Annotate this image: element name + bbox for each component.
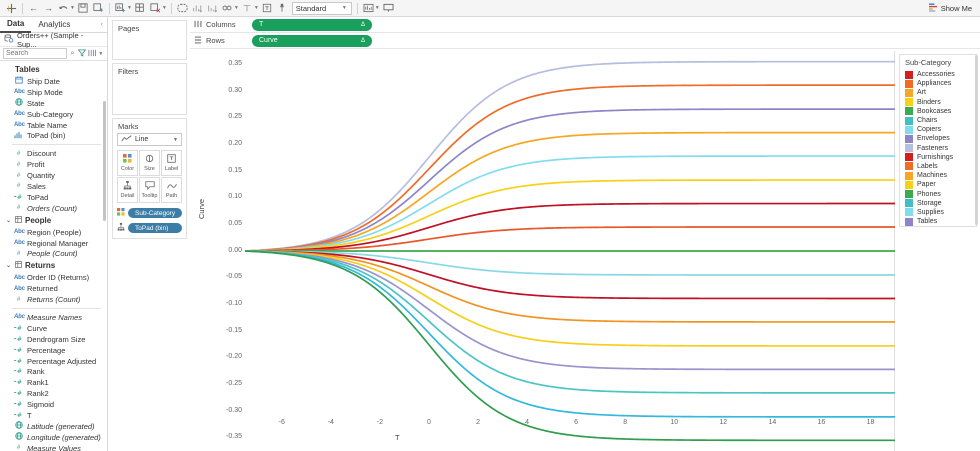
color-button-label: Color — [121, 166, 134, 172]
abc-icon: Abc — [14, 275, 23, 281]
field-divider — [12, 144, 101, 145]
legend-item-label: Labels — [917, 163, 938, 170]
field-item-label: Longitude (generated) — [27, 433, 101, 442]
svg-text:#: # — [17, 194, 22, 200]
columns-pill-delta-icon: Δ — [361, 22, 365, 28]
tooltip-icon — [145, 181, 155, 192]
legend-item-label: Art — [917, 89, 926, 96]
tooltip-button-label: Tooltip — [142, 193, 158, 199]
legend-scrollbar[interactable] — [975, 55, 978, 225]
datasource-item[interactable]: Orders++ (Sample - Sup... — [0, 33, 107, 47]
y-axis-tick-label: 0.00 — [212, 247, 242, 254]
field-item-label: Ship Date — [27, 77, 60, 86]
svg-text:#: # — [17, 379, 22, 385]
globe-icon — [14, 98, 23, 108]
abc-icon: Abc — [14, 89, 23, 95]
columns-shelf[interactable]: Columns T Δ — [190, 17, 980, 33]
marks-pill-sub-category[interactable]: Sub-Category — [128, 208, 182, 218]
calc-hash-icon: # — [14, 378, 23, 387]
columns-icon — [194, 20, 202, 30]
filter-icon[interactable] — [78, 49, 86, 59]
marks-card: Marks Line ▼ — [112, 118, 187, 239]
legend-item-label: Tables — [917, 218, 937, 225]
svg-text:#: # — [17, 325, 22, 331]
field-item-ship-mode[interactable]: AbcShip Mode — [0, 87, 107, 98]
svg-text:#: # — [17, 390, 22, 396]
rows-pill-label: Curve — [259, 37, 278, 44]
y-axis-tick-label: -0.15 — [212, 327, 242, 334]
presentation-mode-icon[interactable] — [381, 1, 396, 16]
calc-hash-icon: # — [14, 324, 23, 333]
color-icon — [117, 208, 125, 218]
field-item-label: Latitude (generated) — [27, 422, 95, 431]
globe-icon — [14, 421, 23, 431]
svg-text:#: # — [17, 336, 22, 342]
datasource-icon — [4, 34, 14, 45]
field-item-label: Order ID (Returns) — [27, 273, 89, 282]
hash-icon: # — [14, 297, 23, 303]
show-me-label: Show Me — [941, 4, 972, 13]
legend-swatch — [905, 190, 913, 198]
field-item-label: Curve — [27, 324, 47, 333]
abc-icon: Abc — [14, 122, 23, 128]
field-item-label: Quantity — [27, 171, 55, 180]
field-item-returns-count[interactable]: #Returns (Count) — [0, 294, 107, 305]
hash-icon: # — [14, 251, 23, 257]
legend-items-list[interactable]: AccessoriesAppliancesArtBindersBookcases… — [900, 70, 976, 226]
field-item-topad[interactable]: #ToPad — [0, 192, 107, 203]
rows-shelf-label: Rows — [190, 36, 252, 46]
chevron-down-icon: ▼ — [173, 137, 178, 143]
field-item-percentage[interactable]: #Percentage — [0, 345, 107, 356]
field-item-rank2[interactable]: #Rank2 — [0, 388, 107, 399]
label-icon — [167, 154, 176, 165]
field-item-label: Returned — [27, 284, 58, 293]
legend-item-label: Binders — [917, 99, 941, 106]
field-divider — [12, 308, 101, 309]
legend-item[interactable]: Supplies — [900, 208, 976, 217]
calc-hash-icon: # — [14, 411, 23, 420]
clear-sheet-icon[interactable] — [148, 1, 163, 16]
field-item-sales[interactable]: #Sales — [0, 181, 107, 192]
visualization-area[interactable]: Curve T 0.350.300.250.200.150.100.050.00… — [190, 51, 895, 451]
legend-item[interactable]: Envelopes — [900, 134, 976, 143]
series-line-supplies — [245, 251, 895, 417]
datasource-label: Orders++ (Sample - Sup... — [17, 31, 103, 49]
field-item-profit[interactable]: #Profit — [0, 159, 107, 170]
y-axis-tick-label: 0.05 — [212, 220, 242, 227]
rows-icon — [194, 36, 202, 46]
legend-item[interactable]: Binders — [900, 98, 976, 107]
columns-pill-t[interactable]: T Δ — [252, 19, 372, 31]
hash-icon: # — [14, 445, 23, 451]
hash-icon: # — [14, 205, 23, 211]
field-item-label: Sub-Category — [27, 110, 73, 119]
size-button-label: Size — [144, 166, 155, 172]
legend-item[interactable]: Art — [900, 88, 976, 97]
collapse-pane-icon[interactable]: ‹ — [101, 21, 107, 28]
hash-icon: # — [14, 183, 23, 189]
legend-item-label: Copiers — [917, 126, 941, 133]
field-item-table-name[interactable]: AbcTable Name — [0, 120, 107, 131]
y-axis-tick-label: 0.30 — [212, 87, 242, 94]
calc-hash-icon: # — [14, 357, 23, 366]
y-axis-tick-label: -0.25 — [212, 380, 242, 387]
color-button[interactable]: Color — [117, 150, 138, 176]
legend-item[interactable]: Appliances — [900, 79, 976, 88]
y-axis-ticks: 0.350.300.250.200.150.100.050.00-0.05-0.… — [202, 51, 242, 451]
field-item-orders-count[interactable]: #Orders (Count) — [0, 203, 107, 214]
save-icon[interactable] — [76, 1, 91, 16]
detail-button[interactable]: Detail — [117, 177, 138, 203]
y-axis-tick-label: 0.20 — [212, 140, 242, 147]
size-icon — [145, 154, 154, 165]
field-item-measure-names[interactable]: AbcMeasure Names — [0, 312, 107, 323]
series-line-appliances — [245, 85, 895, 251]
legend-item-label: Bookcases — [917, 108, 951, 115]
label-button-label: Label — [165, 166, 178, 172]
field-group-label: People — [25, 216, 51, 225]
pages-card-title: Pages — [113, 21, 186, 35]
field-item-sigmoid[interactable]: #Sigmoid — [0, 399, 107, 410]
field-item-label: Dendrogram Size — [27, 335, 85, 344]
legend-swatch — [905, 199, 913, 207]
fit-axis-icon[interactable] — [361, 1, 376, 16]
legend-item-label: Storage — [917, 200, 942, 207]
legend-item[interactable]: Chairs — [900, 116, 976, 125]
legend-item-label: Supplies — [917, 209, 944, 216]
new-worksheet-icon[interactable] — [113, 1, 128, 16]
chevron-down-icon[interactable]: ⌄ — [6, 262, 12, 269]
svg-text:#: # — [17, 346, 22, 352]
legend-swatch — [905, 80, 913, 88]
legend-swatch — [905, 172, 913, 180]
fix-axes-icon[interactable] — [275, 1, 290, 16]
legend-item-label: Appliances — [917, 80, 951, 87]
legend-swatch — [905, 162, 913, 170]
group-dropdown-icon[interactable]: ▼ — [234, 5, 239, 11]
marks-pill-row-color: Sub-Category — [117, 208, 182, 218]
color-legend: Sub-Category AccessoriesAppliancesArtBin… — [896, 51, 980, 451]
table-icon — [15, 216, 22, 225]
shelf-area: Columns T Δ Rows Curve Δ — [190, 17, 980, 51]
field-group-label: Returns — [25, 261, 55, 270]
field-item-latitude-generated[interactable]: Latitude (generated) — [0, 421, 107, 432]
field-item-label: Orders (Count) — [27, 204, 77, 213]
field-item-percentage-adjusted[interactable]: #Percentage Adjusted — [0, 356, 107, 367]
path-button[interactable]: Path — [161, 177, 182, 203]
tableau-logo-icon[interactable] — [4, 1, 19, 16]
field-item-measure-values[interactable]: #Measure Values — [0, 443, 107, 451]
legend-swatch — [905, 117, 913, 125]
legend-item[interactable]: Machines — [900, 171, 976, 180]
field-item-label: Sales — [27, 182, 46, 191]
calendar-icon — [14, 76, 23, 86]
rows-pill-delta-icon: Δ — [361, 38, 365, 44]
y-axis-tick-label: 0.25 — [212, 113, 242, 120]
columns-shelf-label: Columns — [190, 20, 252, 30]
marks-pill-topad-bin[interactable]: ToPad (bin) — [128, 223, 182, 233]
field-item-label: People (Count) — [27, 249, 77, 258]
calc-hash-icon: # — [14, 400, 23, 409]
legend-item[interactable]: Accessories — [900, 70, 976, 79]
legend-swatch — [905, 208, 913, 216]
line-chart-svg — [245, 51, 895, 451]
marks-card-title: Marks — [113, 119, 186, 133]
field-item-label: Rank — [27, 367, 45, 376]
field-item-longitude-generated[interactable]: Longitude (generated) — [0, 432, 107, 443]
field-group-returns[interactable]: ⌄Returns — [0, 259, 107, 272]
main-toolbar: ← → ▼ ▼ ▼ — [0, 0, 980, 17]
y-axis-tick-label: 0.15 — [212, 167, 242, 174]
data-pane: Data Analytics ‹ Orders++ (Sample - Sup.… — [0, 17, 108, 451]
globe-icon — [14, 432, 23, 442]
color-icon — [123, 154, 132, 165]
svg-text:#: # — [17, 412, 22, 418]
legend-item-label: Envelopes — [917, 135, 950, 142]
path-icon — [167, 182, 177, 192]
legend-swatch — [905, 107, 913, 115]
field-item-label: Discount — [27, 149, 56, 158]
cards-column: Pages Filters Marks Line ▼ — [109, 17, 190, 451]
legend-item-label: Chairs — [917, 117, 937, 124]
detail-button-label: Detail — [120, 193, 134, 199]
hash-icon: # — [14, 173, 23, 179]
field-item-state[interactable]: State — [0, 98, 107, 109]
search-row: ⌕ ▼ — [0, 47, 107, 61]
clear-dropdown-icon[interactable]: ▼ — [162, 5, 167, 11]
legend-title: Sub-Category — [900, 55, 976, 70]
abc-icon: Abc — [14, 240, 23, 246]
abc-icon: Abc — [14, 286, 23, 292]
field-item-label: Ship Mode — [27, 88, 63, 97]
legend-item-label: Machines — [917, 172, 947, 179]
field-item-label: ToPad (bin) — [27, 131, 65, 140]
label-button[interactable]: Label — [161, 150, 182, 176]
field-item-label: Percentage — [27, 346, 65, 355]
legend-item[interactable]: Storage — [900, 199, 976, 208]
field-item-label: Region (People) — [27, 228, 81, 237]
pages-card[interactable]: Pages — [112, 20, 187, 60]
calc-hash-icon: # — [14, 346, 23, 355]
legend-swatch — [905, 181, 913, 189]
fit-axis-dropdown-icon[interactable]: ▼ — [375, 5, 380, 11]
path-button-label: Path — [166, 193, 177, 199]
legend-item[interactable]: Labels — [900, 162, 976, 171]
legend-item-label: Accessories — [917, 71, 955, 78]
legend-swatch — [905, 89, 913, 97]
table-icon — [15, 261, 22, 270]
columns-pill-label: T — [259, 21, 263, 28]
chevron-down-icon: ▼ — [342, 5, 347, 11]
svg-text:#: # — [17, 401, 22, 407]
legend-item[interactable]: Paper — [900, 180, 976, 189]
field-item-regional-manager[interactable]: AbcRegional Manager — [0, 238, 107, 249]
sort-ascending-icon[interactable] — [190, 1, 205, 16]
field-group-tables[interactable]: Tables — [0, 63, 107, 76]
svg-text:#: # — [17, 368, 22, 374]
legend-card: Sub-Category AccessoriesAppliancesArtBin… — [899, 54, 977, 227]
y-axis-tick-label: -0.35 — [212, 433, 242, 440]
field-item-topad-bin[interactable]: ToPad (bin) — [0, 130, 107, 141]
field-item-rank[interactable]: #Rank — [0, 366, 107, 377]
plot-canvas[interactable] — [245, 51, 895, 451]
legend-item[interactable]: Bookcases — [900, 107, 976, 116]
field-item-label: Returns (Count) — [27, 295, 80, 304]
field-item-label: Sigmoid — [27, 400, 54, 409]
legend-item[interactable]: Phones — [900, 189, 976, 198]
sort-descending-icon[interactable] — [205, 1, 220, 16]
y-axis-tick-label: -0.10 — [212, 300, 242, 307]
show-labels-icon[interactable] — [240, 1, 255, 16]
highlight-icon[interactable] — [175, 1, 190, 16]
field-item-label: ToPad — [27, 193, 48, 202]
legend-item[interactable]: Tables — [900, 217, 976, 226]
size-button[interactable]: Size — [139, 150, 160, 176]
field-item-returned[interactable]: AbcReturned — [0, 283, 107, 294]
field-item-region-people[interactable]: AbcRegion (People) — [0, 227, 107, 238]
abc-icon: Abc — [14, 229, 23, 235]
marks-pill-row-detail: ToPad (bin) — [117, 223, 182, 233]
legend-item[interactable]: Fasteners — [900, 144, 976, 153]
new-worksheet-dropdown-icon[interactable]: ▼ — [127, 5, 132, 11]
line-mark-icon — [121, 135, 132, 144]
y-axis-tick-label: -0.20 — [212, 353, 242, 360]
field-item-discount[interactable]: #Discount — [0, 148, 107, 159]
field-item-order-id-returns[interactable]: AbcOrder ID (Returns) — [0, 272, 107, 283]
add-datasource-icon[interactable] — [91, 1, 106, 16]
bin-icon — [14, 131, 23, 141]
calc-hash-icon: # — [14, 367, 23, 376]
legend-swatch — [905, 153, 913, 161]
legend-item[interactable]: Copiers — [900, 125, 976, 134]
legend-swatch — [905, 71, 913, 79]
chevron-down-icon[interactable]: ⌄ — [6, 217, 12, 224]
text-label-icon[interactable] — [260, 1, 275, 16]
rows-shelf[interactable]: Rows Curve Δ — [190, 33, 980, 49]
labels-dropdown-icon[interactable]: ▼ — [254, 5, 259, 11]
filters-card[interactable]: Filters — [112, 63, 187, 115]
tooltip-button[interactable]: Tooltip — [139, 177, 160, 203]
forward-icon[interactable]: → — [41, 1, 56, 16]
detail-icon — [123, 181, 132, 192]
field-item-label: Regional Manager — [27, 239, 88, 248]
field-item-label: Rank1 — [27, 378, 49, 387]
chevron-down-icon[interactable]: ▼ — [98, 51, 104, 57]
field-item-label: Table Name — [27, 121, 67, 130]
mark-type-select[interactable]: Line ▼ — [117, 133, 182, 146]
undo-dropdown-icon[interactable]: ▼ — [70, 5, 75, 11]
field-item-dendrogram-size[interactable]: #Dendrogram Size — [0, 334, 107, 345]
y-axis-tick-label: -0.05 — [212, 273, 242, 280]
show-me-icon — [929, 3, 938, 14]
legend-swatch — [905, 126, 913, 134]
field-item-label: Measure Values — [27, 444, 81, 451]
show-me-button[interactable]: Show Me — [929, 3, 976, 14]
data-pane-scrollbar[interactable] — [103, 101, 106, 221]
field-item-rank1[interactable]: #Rank1 — [0, 377, 107, 388]
y-axis-tick-label: -0.30 — [212, 407, 242, 414]
field-item-label: Profit — [27, 160, 45, 169]
group-members-icon[interactable] — [220, 1, 235, 16]
hash-icon: # — [14, 162, 23, 168]
legend-item[interactable]: Furnishings — [900, 153, 976, 162]
legend-swatch — [905, 98, 913, 106]
field-item-quantity[interactable]: #Quantity — [0, 170, 107, 181]
field-group-label: Tables — [15, 65, 40, 74]
y-axis-tick-label: 0.10 — [212, 193, 242, 200]
svg-text:#: # — [17, 357, 22, 363]
abc-icon: Abc — [14, 111, 23, 117]
field-item-t[interactable]: #T — [0, 410, 107, 421]
abc-icon: Abc — [14, 314, 23, 320]
field-item-label: Measure Names — [27, 313, 82, 322]
field-group-people[interactable]: ⌄People — [0, 214, 107, 227]
field-item-people-count[interactable]: #People (Count) — [0, 248, 107, 259]
detail-icon — [117, 223, 125, 233]
legend-item-label: Phones — [917, 191, 941, 198]
mark-type-value: Line — [135, 136, 148, 143]
rows-pill-curve[interactable]: Curve Δ — [252, 35, 372, 47]
undo-icon[interactable] — [56, 1, 71, 16]
fit-select[interactable]: Standard ▼ — [292, 2, 352, 15]
filters-card-title: Filters — [113, 64, 186, 78]
group-by-icon[interactable] — [88, 49, 96, 59]
calc-hash-icon: # — [14, 335, 23, 344]
hash-icon: # — [14, 151, 23, 157]
field-item-label: State — [27, 99, 45, 108]
field-item-label: T — [27, 411, 32, 420]
magnifier-icon[interactable]: ⌕ — [69, 50, 75, 58]
legend-item-label: Furnishings — [917, 154, 953, 161]
mark-buttons-grid: Color Size Label — [117, 150, 182, 203]
field-list[interactable]: TablesShip DateAbcShip ModeStateAbcSub-C… — [0, 61, 107, 451]
legend-swatch — [905, 218, 913, 226]
field-item-label: Percentage Adjusted — [27, 357, 96, 366]
legend-item-label: Paper — [917, 181, 936, 188]
search-input[interactable] — [3, 48, 67, 59]
field-item-label: Rank2 — [27, 389, 49, 398]
field-item-sub-category[interactable]: AbcSub-Category — [0, 109, 107, 120]
field-item-curve[interactable]: #Curve — [0, 323, 107, 334]
y-axis-tick-label: 0.35 — [212, 60, 242, 67]
back-icon[interactable]: ← — [26, 1, 41, 16]
new-dashboard-icon[interactable] — [133, 1, 148, 16]
legend-swatch — [905, 135, 913, 143]
calc-hash-icon: # — [14, 193, 23, 202]
legend-item-label: Fasteners — [917, 145, 948, 152]
legend-swatch — [905, 144, 913, 152]
calc-hash-icon: # — [14, 389, 23, 398]
fit-select-value: Standard — [296, 4, 326, 13]
field-item-ship-date[interactable]: Ship Date — [0, 76, 107, 87]
